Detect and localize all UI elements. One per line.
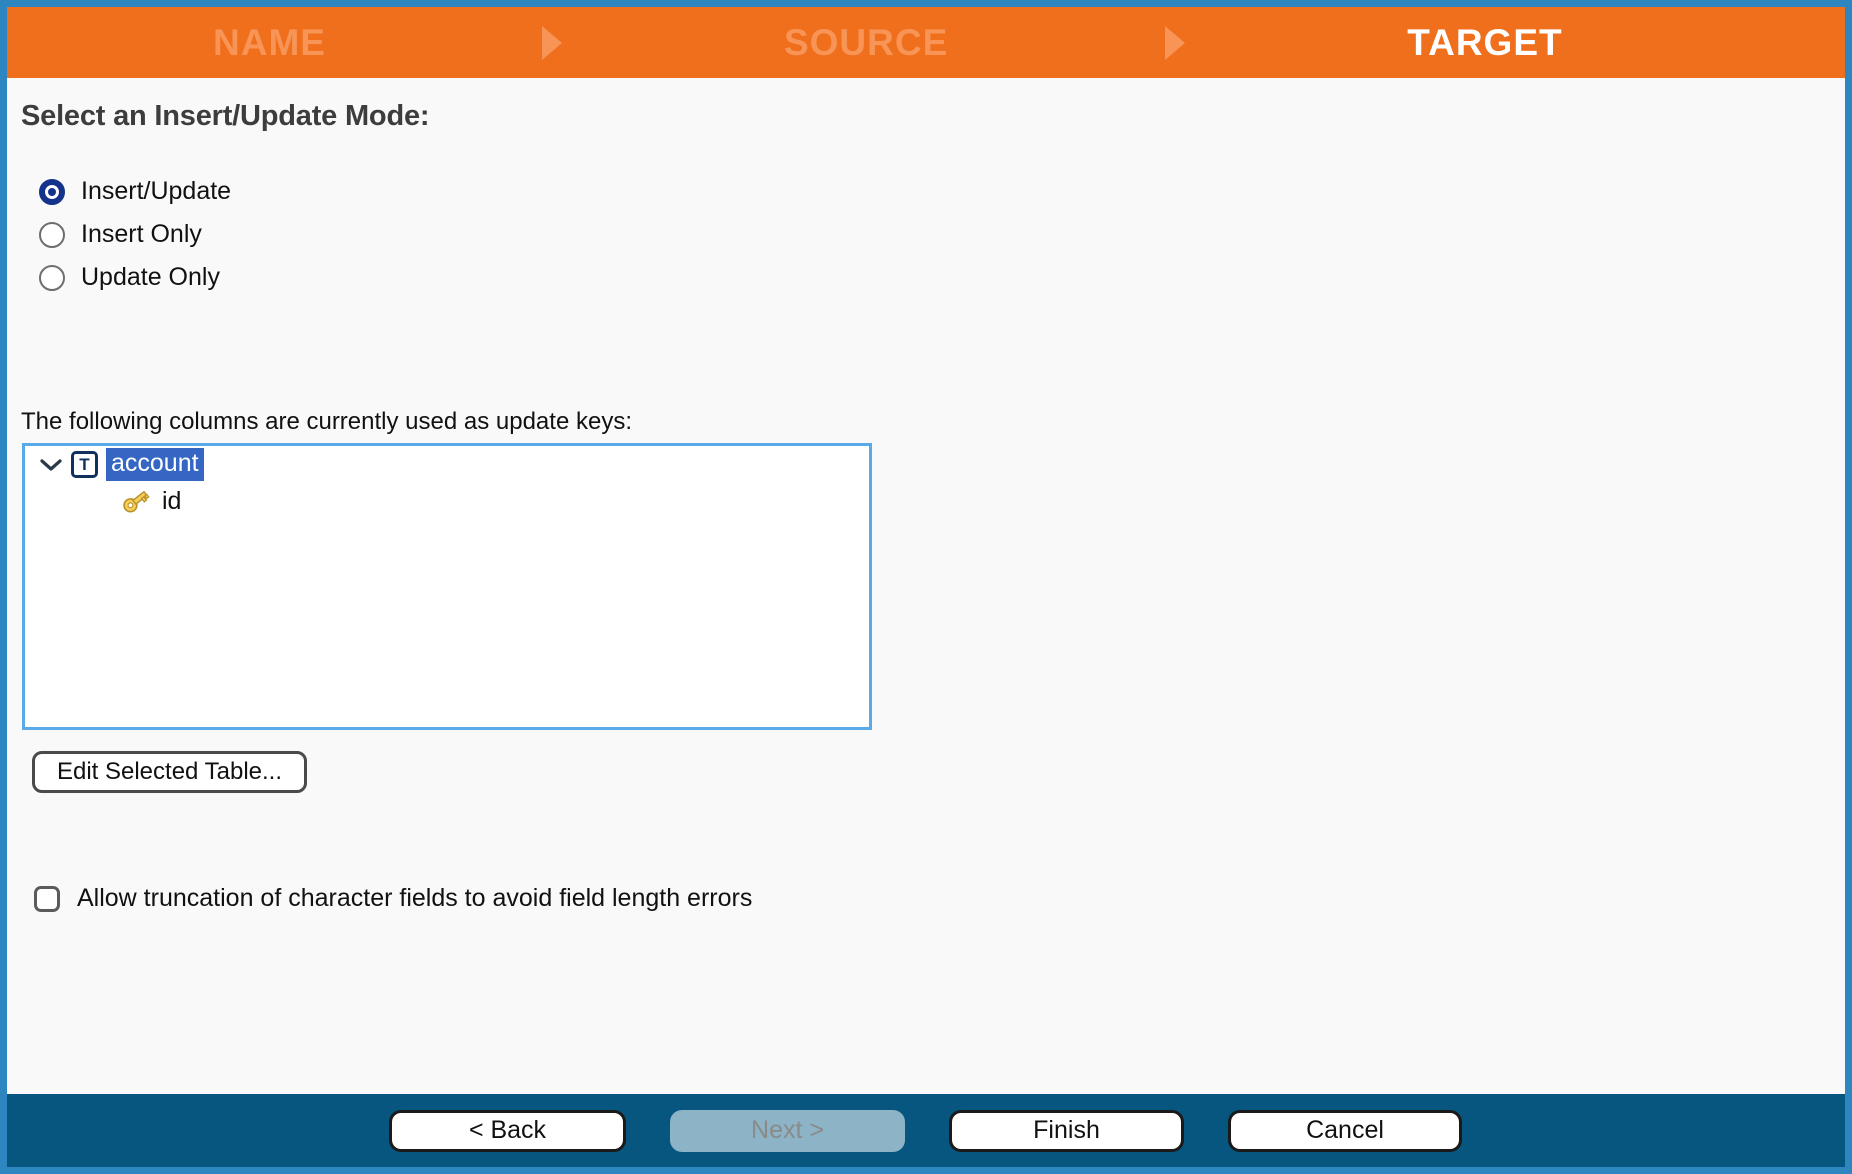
back-button[interactable]: < Back: [389, 1110, 626, 1152]
allow-truncation-checkbox[interactable]: [34, 886, 60, 912]
finish-button[interactable]: Finish: [949, 1110, 1184, 1152]
tree-node-id-label[interactable]: id: [162, 487, 181, 516]
allow-truncation-label: Allow truncation of character fields to …: [77, 884, 752, 913]
wizard-step-name[interactable]: NAME: [213, 24, 326, 61]
chevron-right-icon-1: [542, 26, 562, 60]
tree-node-account-label[interactable]: account: [106, 448, 204, 481]
radio-option-insert-only[interactable]: Insert Only: [39, 213, 231, 256]
radio-update-only-icon[interactable]: [39, 265, 65, 291]
table-icon: T: [71, 451, 98, 478]
tree-node-id[interactable]: id: [25, 483, 869, 519]
radio-option-update-only[interactable]: Update Only: [39, 256, 231, 299]
wizard-content-panel: Select an Insert/Update Mode: Insert/Upd…: [7, 78, 1845, 1094]
allow-truncation-checkbox-row[interactable]: Allow truncation of character fields to …: [34, 884, 752, 913]
wizard-footer: < Back Next > Finish Cancel: [7, 1094, 1845, 1167]
wizard-step-header: NAME SOURCE TARGET: [7, 7, 1845, 78]
radio-option-insert-update[interactable]: Insert/Update: [39, 170, 231, 213]
radio-insert-only-icon[interactable]: [39, 222, 65, 248]
radio-option-insert-update-label: Insert/Update: [81, 177, 231, 206]
wizard-step-source[interactable]: SOURCE: [784, 24, 948, 61]
wizard-window: NAME SOURCE TARGET Select an Insert/Upda…: [0, 0, 1852, 1174]
page-title: Select an Insert/Update Mode:: [21, 100, 429, 133]
radio-option-update-only-label: Update Only: [81, 263, 220, 292]
wizard-step-target[interactable]: TARGET: [1407, 24, 1562, 61]
radio-insert-update-icon[interactable]: [39, 179, 65, 205]
cancel-button[interactable]: Cancel: [1228, 1110, 1462, 1152]
chevron-down-icon[interactable]: [39, 453, 63, 477]
chevron-right-icon-2: [1165, 26, 1185, 60]
tree-node-account[interactable]: T account: [25, 446, 869, 483]
radio-option-insert-only-label: Insert Only: [81, 220, 202, 249]
update-keys-label: The following columns are currently used…: [21, 408, 632, 436]
update-keys-tree[interactable]: T account id: [22, 443, 872, 730]
next-button: Next >: [670, 1110, 905, 1152]
key-icon: [120, 489, 152, 513]
edit-selected-table-button[interactable]: Edit Selected Table...: [32, 751, 307, 793]
insert-update-mode-radio-group: Insert/Update Insert Only Update Only: [39, 170, 231, 299]
